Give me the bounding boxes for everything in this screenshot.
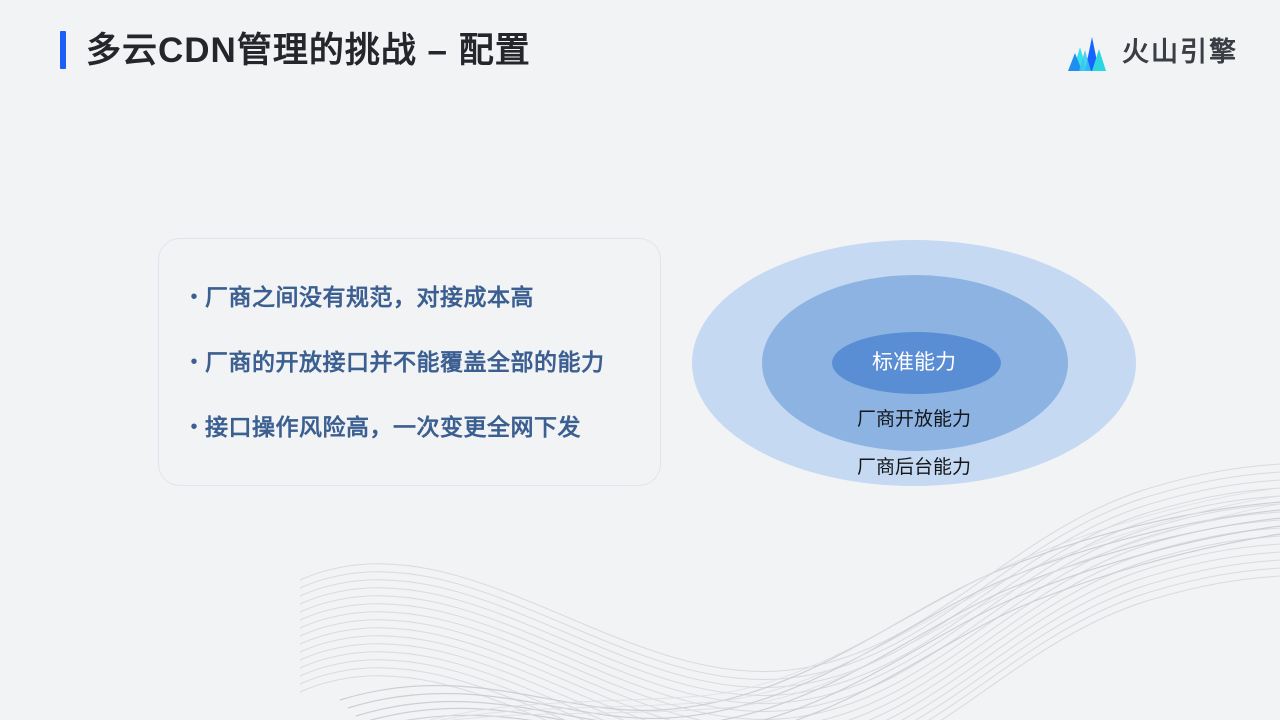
challenges-card: • 厂商之间没有规范，对接成本高 • 厂商的开放接口并不能覆盖全部的能力 • 接…: [158, 238, 661, 486]
concentric-capability-diagram: 标准能力 厂商开放能力 厂商后台能力: [684, 232, 1144, 494]
ring-outer-label: 厂商后台能力: [684, 458, 1144, 477]
volcano-mountain-icon: [1064, 33, 1112, 71]
ring-inner-label: 标准能力: [684, 352, 1144, 373]
page-title: 多云CDN管理的挑战 – 配置: [60, 24, 531, 76]
ring-middle-label: 厂商开放能力: [684, 410, 1144, 429]
bullet-text: 接口操作风险高，一次变更全网下发: [205, 414, 581, 440]
bullet-marker-icon: •: [183, 349, 205, 375]
bullet-text: 厂商之间没有规范，对接成本高: [205, 284, 534, 310]
list-item: • 厂商之间没有规范，对接成本高: [183, 284, 630, 310]
brand-logo: 火山引擎: [1064, 30, 1238, 74]
slide-header: 多云CDN管理的挑战 – 配置 火山引擎: [0, 0, 1280, 100]
background-wave-lines: [0, 460, 1280, 720]
title-accent-bar: [60, 31, 66, 69]
bullet-text: 厂商的开放接口并不能覆盖全部的能力: [205, 349, 605, 375]
bullet-marker-icon: •: [183, 284, 205, 310]
brand-logo-text: 火山引擎: [1122, 39, 1238, 66]
list-item: • 厂商的开放接口并不能覆盖全部的能力: [183, 349, 630, 375]
slide-canvas: 多云CDN管理的挑战 – 配置 火山引擎 • 厂商之间没有规范，对接成本高 • …: [0, 0, 1280, 720]
list-item: • 接口操作风险高，一次变更全网下发: [183, 414, 630, 440]
page-title-text: 多云CDN管理的挑战 – 配置: [86, 33, 531, 68]
bullet-marker-icon: •: [183, 414, 205, 440]
